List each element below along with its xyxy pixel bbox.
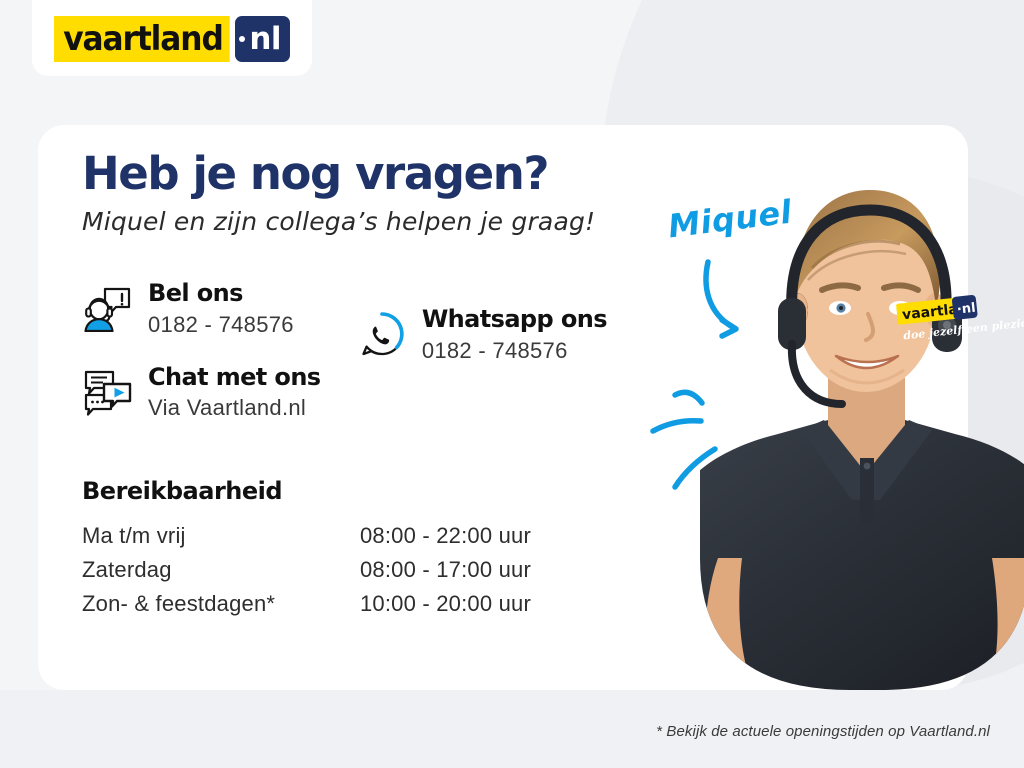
- curved-arrow-icon: [700, 258, 800, 358]
- contact-method-call-text: Bel ons 0182 - 748576: [148, 280, 294, 338]
- chat-bubbles-icon: [82, 366, 134, 418]
- contact-call-value: 0182 - 748576: [148, 312, 294, 338]
- logo-tld-text: nl: [249, 21, 281, 57]
- table-row: Zon- & feestdagen* 10:00 - 20:00 uur: [82, 587, 531, 621]
- contact-row-primary: Bel ons 0182 - 748576 Whatsapp ons 0182 …: [82, 280, 642, 364]
- contact-chat-title: Chat met ons: [148, 364, 321, 392]
- contact-content: Heb je nog vragen? Miquel en zijn colleg…: [82, 150, 642, 621]
- contact-whatsapp-title: Whatsapp ons: [422, 306, 607, 334]
- availability-title: Bereikbaarheid: [82, 477, 642, 505]
- hours-value: 08:00 - 22:00 uur: [360, 519, 531, 553]
- logo-wordmark: vaartland: [54, 16, 230, 62]
- polo-button: [864, 463, 871, 470]
- footnote-text: * Bekijk de actuele openingstijden op Va…: [656, 723, 990, 740]
- whatsapp-icon: [356, 308, 408, 360]
- page-title: Heb je nog vragen?: [82, 150, 642, 197]
- headset-person-alert-icon: [82, 282, 134, 334]
- hours-value: 08:00 - 17:00 uur: [360, 553, 531, 587]
- hours-day: Zon- & feestdagen*: [82, 587, 360, 621]
- contact-methods: Bel ons 0182 - 748576 Whatsapp ons 0182 …: [82, 280, 642, 421]
- contact-method-whatsapp[interactable]: Whatsapp ons 0182 - 748576: [356, 306, 607, 364]
- table-row: Zaterdag 08:00 - 17:00 uur: [82, 553, 531, 587]
- brand-logo[interactable]: vaartland nl: [32, 0, 312, 76]
- contact-method-chat[interactable]: Chat met ons Via Vaartland.nl: [82, 364, 642, 422]
- contact-method-chat-text: Chat met ons Via Vaartland.nl: [148, 364, 321, 422]
- hours-day: Zaterdag: [82, 553, 360, 587]
- hours-day: Ma t/m vrij: [82, 519, 360, 553]
- contact-whatsapp-value: 0182 - 748576: [422, 338, 607, 364]
- availability-section: Bereikbaarheid Ma t/m vrij 08:00 - 22:00…: [82, 477, 642, 621]
- contact-method-whatsapp-text: Whatsapp ons 0182 - 748576: [422, 306, 607, 364]
- logo-tld-badge: nl: [235, 16, 290, 62]
- accent-dash-strokes: [645, 365, 735, 515]
- contact-method-call[interactable]: Bel ons 0182 - 748576: [82, 280, 294, 364]
- contact-call-title: Bel ons: [148, 280, 294, 308]
- logo-dot-icon: [239, 36, 245, 42]
- opening-hours-table: Ma t/m vrij 08:00 - 22:00 uur Zaterdag 0…: [82, 519, 531, 621]
- svg-text:·nl: ·nl: [956, 301, 976, 318]
- hours-value: 10:00 - 20:00 uur: [360, 587, 531, 621]
- contact-chat-value: Via Vaartland.nl: [148, 395, 321, 421]
- table-row: Ma t/m vrij 08:00 - 22:00 uur: [82, 519, 531, 553]
- vaartland-logo-mark: vaartland nl: [54, 16, 290, 62]
- page-subtitle: Miquel en zijn collega’s helpen je graag…: [82, 207, 642, 236]
